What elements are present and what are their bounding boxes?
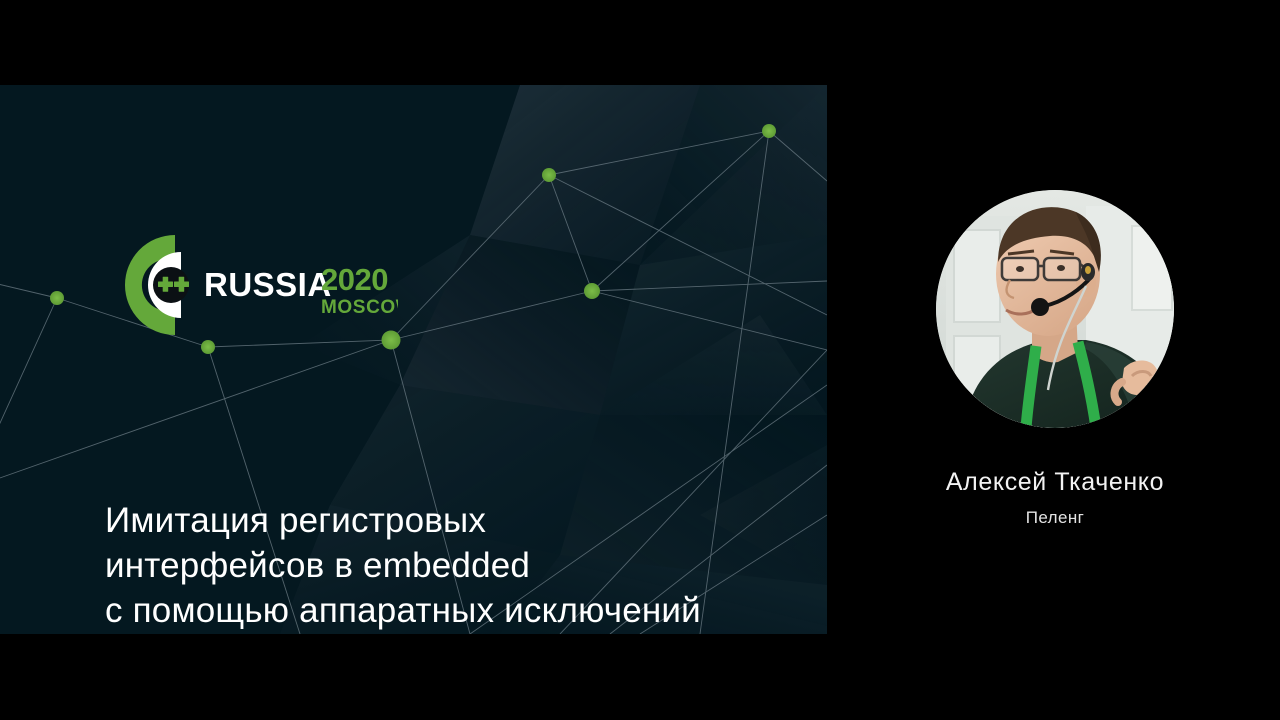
speaker-info-panel: Алексей Ткаченко Пеленг: [860, 180, 1250, 528]
presentation-slide: RUSSIA 2020 MOSCOW Имитация регистровых …: [0, 85, 827, 634]
slide-title: Имитация регистровых интерфейсов в embed…: [105, 498, 825, 633]
logo-year-text: 2020: [321, 262, 388, 297]
cpp-russia-logo: RUSSIA 2020 MOSCOW: [108, 230, 398, 340]
logo-country-text: RUSSIA: [204, 266, 332, 303]
speaker-avatar: [936, 190, 1174, 428]
video-player-frame: RUSSIA 2020 MOSCOW Имитация регистровых …: [0, 0, 1280, 720]
speaker-company: Пеленг: [860, 508, 1250, 528]
logo-city-text: MOSCOW: [321, 297, 398, 318]
speaker-name: Алексей Ткаченко: [860, 468, 1250, 497]
